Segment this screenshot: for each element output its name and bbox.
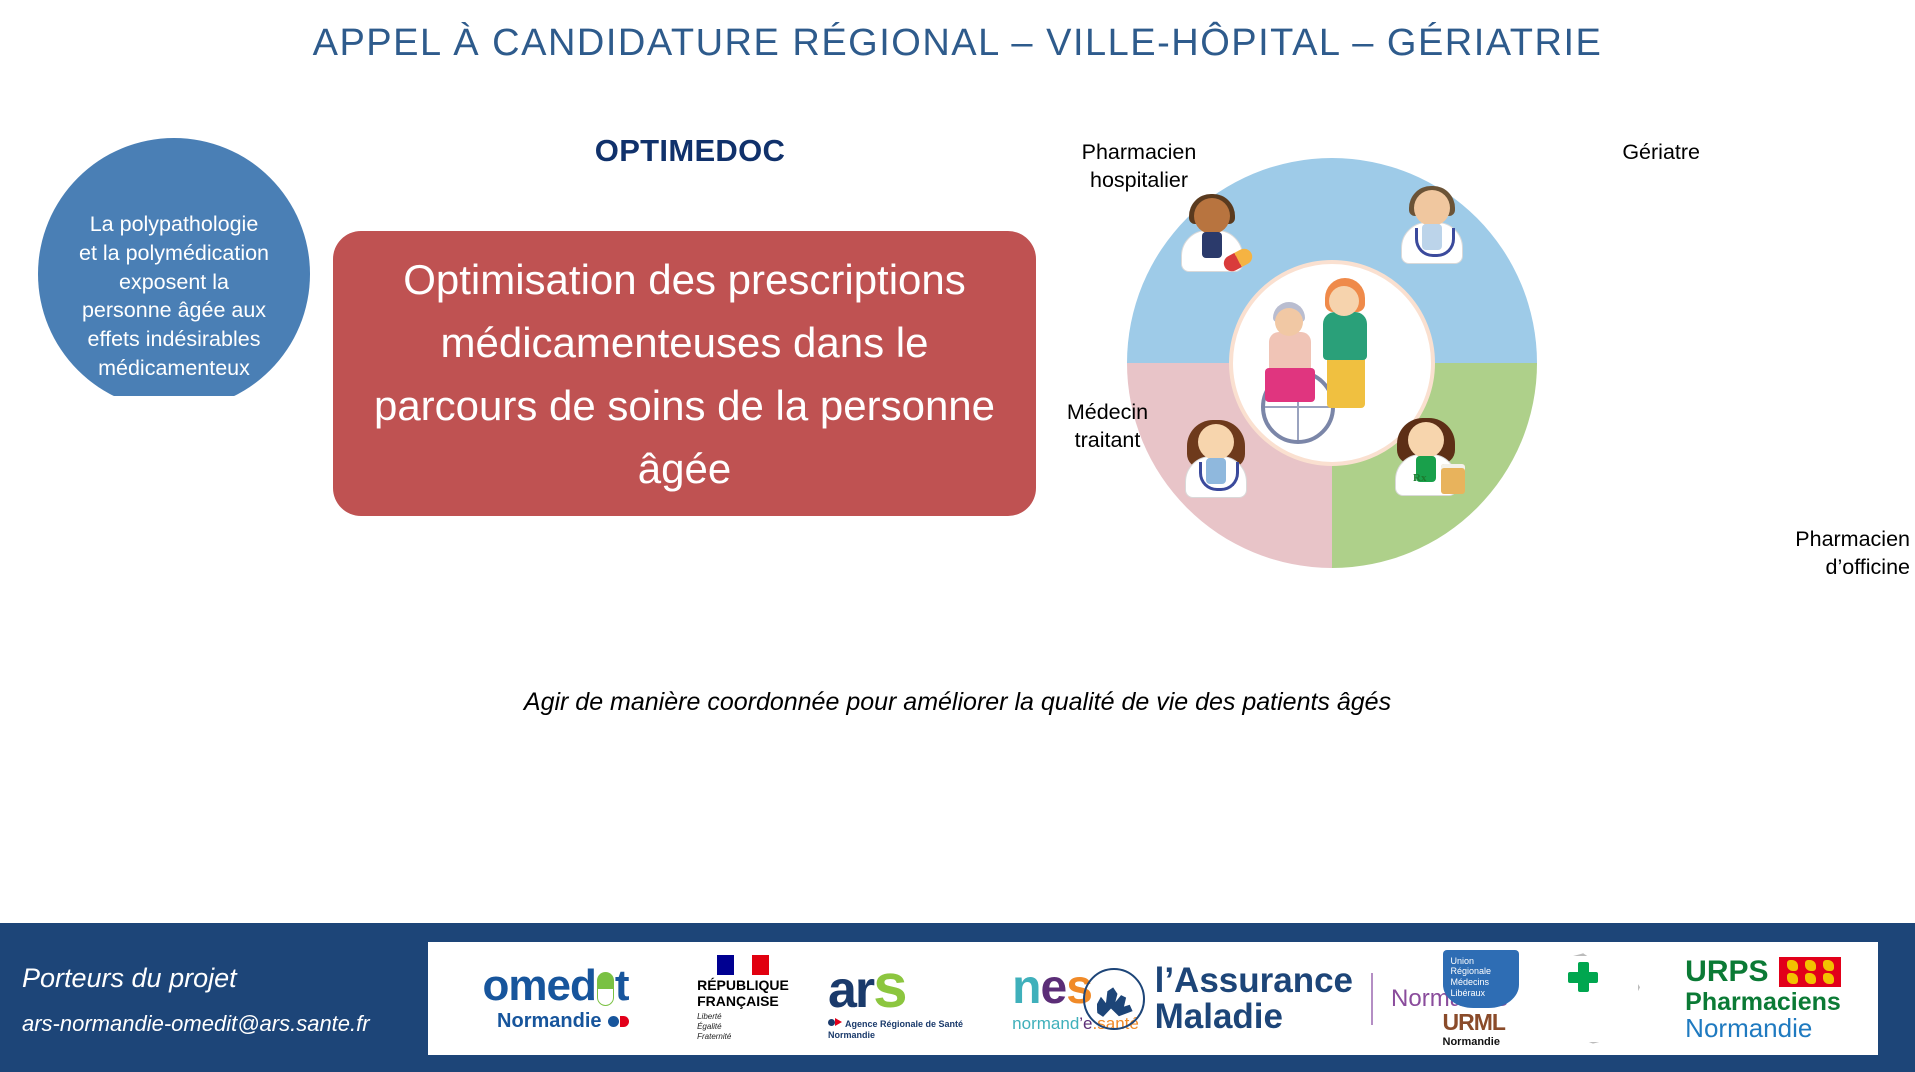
rf-motto-1: Liberté: [697, 1012, 789, 1022]
omedit-region-row: Normandie: [482, 1010, 628, 1033]
ars-sub-1: Agence Régionale de Santé: [845, 1019, 963, 1029]
urml-badge-4: Libéraux: [1451, 988, 1519, 999]
head: [1194, 198, 1230, 234]
capsule-icon: [597, 972, 614, 1006]
urml-badge-2: Régionale: [1451, 966, 1519, 977]
label-line-2: d’officine: [1620, 553, 1910, 581]
label-line-2: traitant: [1020, 426, 1195, 454]
stakeholder-label-pharmacien-officine: Pharmacien d’officine: [1620, 525, 1910, 581]
label-line-2: hospitalier: [1044, 166, 1234, 194]
head: [1408, 422, 1444, 458]
patient-head: [1275, 308, 1303, 336]
geriatrician-icon: [1395, 188, 1469, 262]
ars-sub-2: Normandie: [828, 1030, 963, 1041]
ars-wordmark: ars: [828, 956, 963, 1018]
stakeholder-label-medecin-traitant: Médecin traitant: [1020, 398, 1195, 454]
rf-line-1: RÉPUBLIQUE: [697, 978, 789, 993]
urps-top-row: URPS: [1685, 955, 1841, 989]
urml-badge-icon: Union Régionale Médecins Libéraux: [1443, 950, 1519, 1008]
urps-line-3: Normandie: [1685, 1015, 1841, 1042]
caregiver-top: [1323, 312, 1367, 360]
ars-triangle-icon: [835, 1018, 842, 1026]
urml-wordmark: URML: [1443, 1009, 1519, 1036]
ars-subtitle: Agence Régionale de Santé Normandie: [828, 1018, 963, 1042]
logo-omedit: omedt Normandie: [428, 942, 683, 1055]
pharmacist-officine-icon: Rx: [1389, 420, 1463, 494]
urml-region: Normandie: [1443, 1036, 1519, 1048]
logo-urps-pharmaciens: URPS Pharmaciens Normandie: [1653, 942, 1873, 1055]
footer-logo-strip: omedt Normandie RÉPUBLIQUE FRANÇAISE Lib…: [428, 942, 1878, 1055]
label-line-1: Médecin: [1020, 398, 1195, 426]
logo-assurance-maladie: l’Assurance Maladie Normandie: [1163, 942, 1428, 1055]
context-line-4: personne âgée aux: [46, 296, 302, 325]
logo-republique-francaise: RÉPUBLIQUE FRANÇAISE Liberté Égalité Fra…: [683, 942, 803, 1055]
omedit-wordmark: omedt: [482, 964, 628, 1008]
project-name-heading: OPTIMEDOC: [340, 133, 1040, 169]
context-line-3: exposent la: [46, 268, 302, 297]
general-practitioner-icon: [1179, 422, 1253, 496]
rx-symbol: Rx: [1413, 472, 1426, 484]
stakeholder-label-pharmacien-hospitalier: Pharmacien hospitalier: [1044, 138, 1234, 194]
rf-motto: Liberté Égalité Fraternité: [697, 1012, 789, 1042]
logo-france-pharmacy-outline: [1533, 942, 1653, 1055]
label-line-1: Pharmacien: [1044, 138, 1234, 166]
urml-badge-3: Médecins: [1451, 977, 1519, 988]
normandie-flag-icon: [1779, 957, 1841, 987]
footer-owner-label: Porteurs du projet: [22, 963, 237, 994]
head: [1198, 424, 1234, 460]
am-line-1: l’Assurance: [1155, 963, 1353, 999]
securite-sociale-icon: [1083, 968, 1145, 1030]
objective-text: Optimisation des prescriptions médicamen…: [333, 248, 1036, 500]
context-line-2: et la polymédication: [46, 239, 302, 268]
caregiver-head: [1329, 286, 1359, 316]
patient-skirt: [1265, 368, 1315, 402]
urml-badge-1: Union: [1451, 956, 1519, 967]
label-line-1: Pharmacien: [1620, 525, 1910, 553]
nes-sub-a: normand: [1012, 1014, 1079, 1033]
shirt: [1202, 232, 1222, 258]
am-line-2: Maladie: [1155, 999, 1353, 1035]
logo-ars: ars Agence Régionale de Santé Normandie: [803, 942, 988, 1055]
footer-email[interactable]: ars-normandie-omedit@ars.sante.fr: [22, 1011, 370, 1037]
pill-bottle-icon: [1441, 464, 1465, 494]
logo-urml: Union Régionale Médecins Libéraux URML N…: [1428, 942, 1533, 1055]
context-line-5: effets indésirables: [46, 325, 302, 354]
caregiver-legs: [1327, 356, 1365, 408]
context-bubble-text: La polypathologie et la polymédication e…: [46, 210, 302, 383]
french-flag-icon: [717, 955, 769, 975]
objective-box: Optimisation des prescriptions médicamen…: [333, 231, 1036, 516]
france-map-icon: [1544, 952, 1642, 1046]
label-line-1: Gériatre: [1400, 138, 1700, 166]
context-line-1: La polypathologie: [46, 210, 302, 239]
rf-motto-2: Égalité: [697, 1022, 789, 1032]
page-title: APPEL À CANDIDATURE RÉGIONAL – VILLE-HÔP…: [0, 22, 1915, 65]
omedit-region: Normandie: [497, 1010, 601, 1032]
stakeholder-diagram: Rx: [1127, 158, 1537, 568]
pharmacy-cross-icon: [1568, 962, 1598, 992]
stakeholder-label-geriatre: Gériatre: [1400, 138, 1700, 166]
normandie-dots-icon: [608, 1010, 629, 1033]
rf-motto-3: Fraternité: [697, 1032, 789, 1042]
rf-line-2: FRANÇAISE: [697, 994, 789, 1009]
ars-dot-icon: [828, 1019, 835, 1026]
logo-divider: [1371, 973, 1373, 1025]
pharmacist-hospital-icon: [1175, 196, 1249, 270]
urps-line-2: Pharmaciens: [1685, 989, 1841, 1015]
head: [1414, 190, 1450, 226]
context-line-6: médicamenteux: [46, 354, 302, 383]
tagline: Agir de manière coordonnée pour améliore…: [0, 688, 1915, 717]
urps-line-1: URPS: [1685, 955, 1768, 989]
